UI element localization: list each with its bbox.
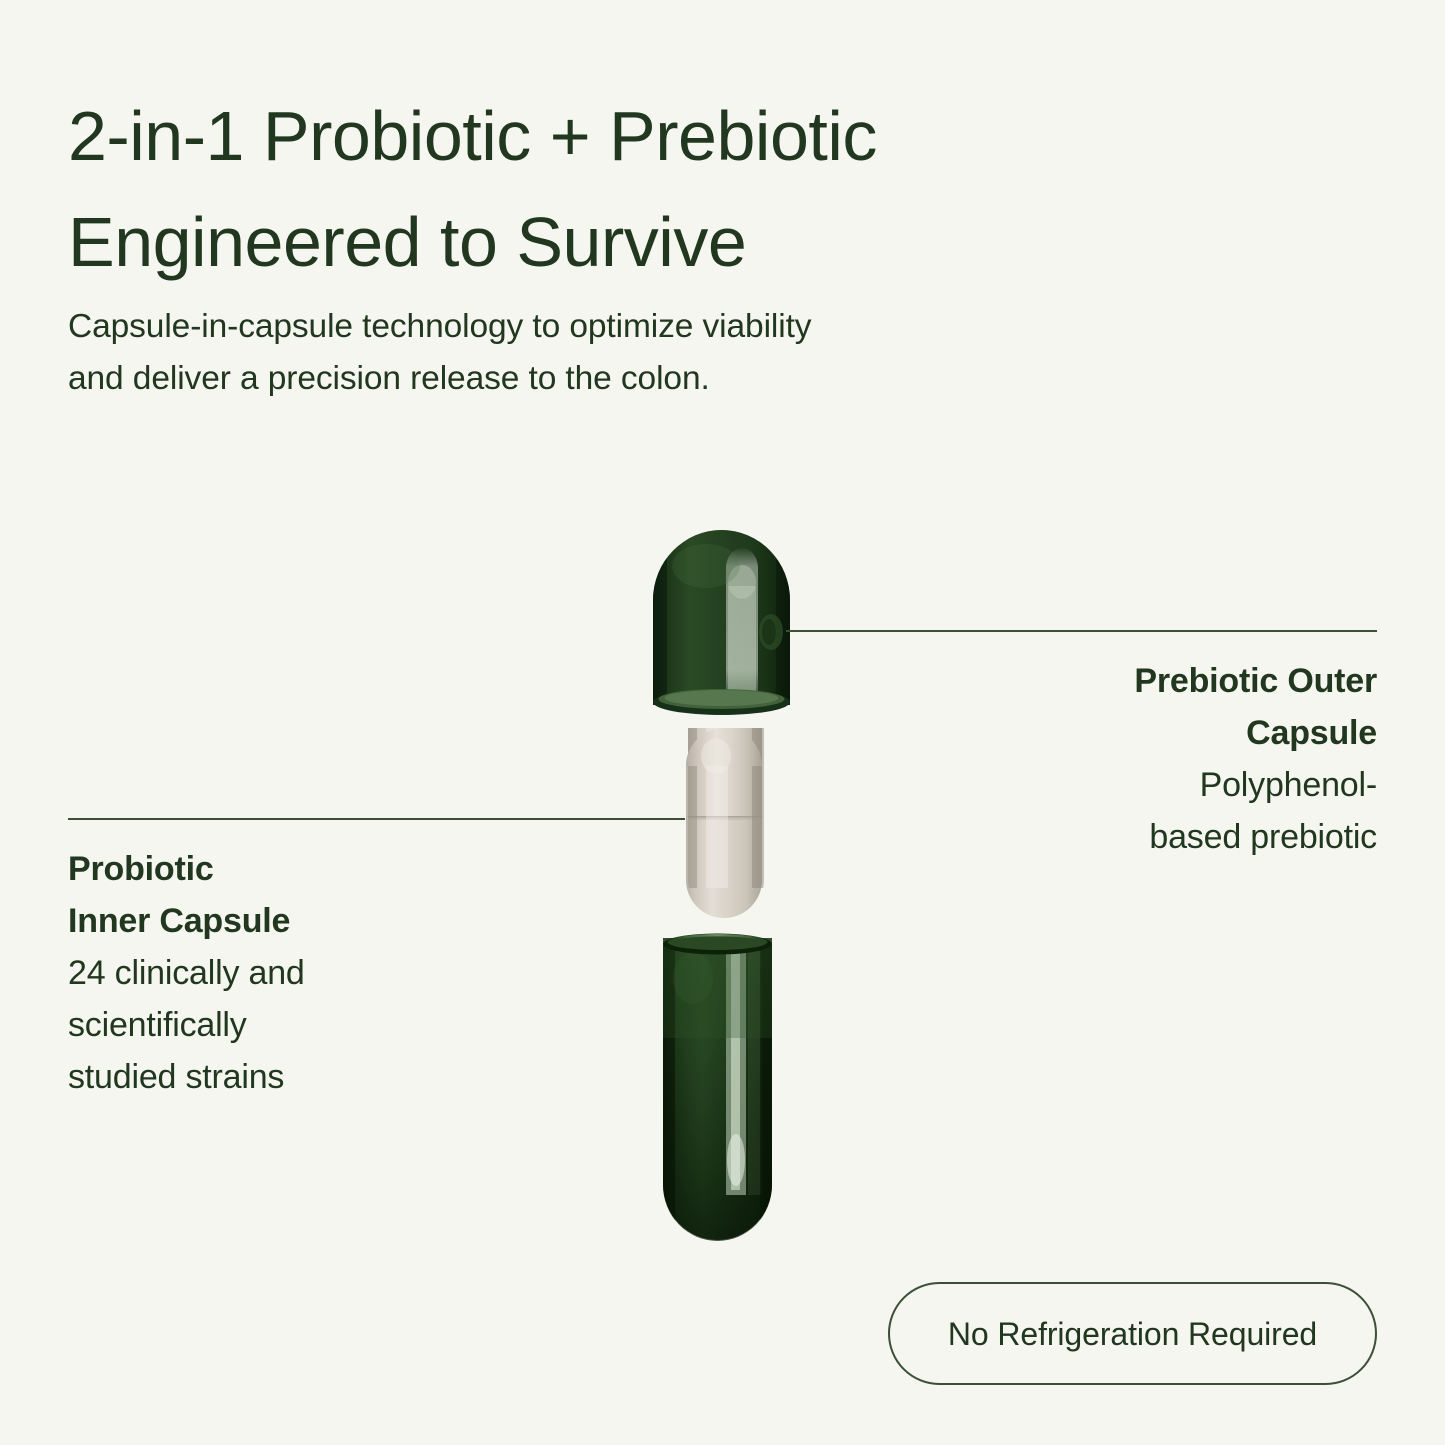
callout-probiotic-inner-capsule: Probiotic Inner Capsule 24 clinically an…	[68, 843, 588, 1103]
badge-label: No Refrigeration Required	[948, 1318, 1317, 1350]
infographic-canvas: 2-in-1 Probiotic + Prebiotic Engineered …	[0, 0, 1445, 1445]
callout-right-title: Prebiotic Outer Capsule	[857, 655, 1377, 759]
no-refrigeration-badge: No Refrigeration Required	[888, 1282, 1377, 1385]
callout-right-description: Polyphenol- based prebiotic	[857, 759, 1377, 863]
outer-capsule-body-group	[663, 934, 772, 1249]
outer-capsule-cap-group	[653, 530, 790, 715]
callout-prebiotic-outer-capsule: Prebiotic Outer Capsule Polyphenol- base…	[857, 655, 1377, 863]
page-subtitle: Capsule-in-capsule technology to optimiz…	[68, 301, 1028, 406]
leader-line-probiotic-inner-capsule	[68, 818, 685, 820]
inner-capsule-group	[686, 728, 764, 918]
leader-line-prebiotic-outer-capsule	[786, 630, 1377, 632]
callout-left-description: 24 clinically and scientifically studied…	[68, 947, 588, 1103]
page-title: 2-in-1 Probiotic + Prebiotic Engineered …	[68, 83, 1118, 296]
callout-left-title: Probiotic Inner Capsule	[68, 843, 588, 947]
